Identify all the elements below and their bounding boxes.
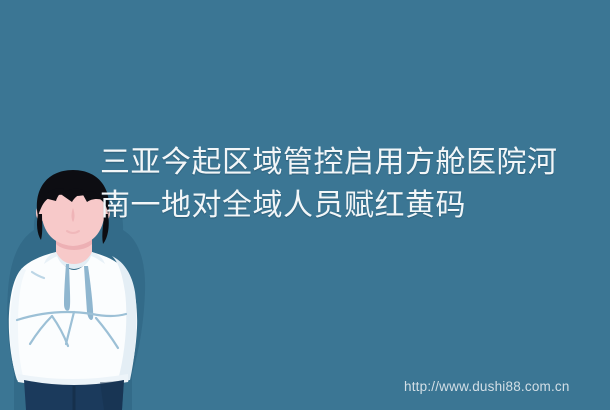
headline-text: 三亚今起区域管控启用方舱医院河 南一地对全域人员赋红黄码: [100, 141, 580, 227]
hoodie: [9, 252, 137, 387]
watermark-url: http://www.dushi88.com.cn: [404, 378, 570, 395]
news-banner: 三亚今起区域管控启用方舱医院河 南一地对全域人员赋红黄码 http://www.…: [0, 0, 610, 410]
